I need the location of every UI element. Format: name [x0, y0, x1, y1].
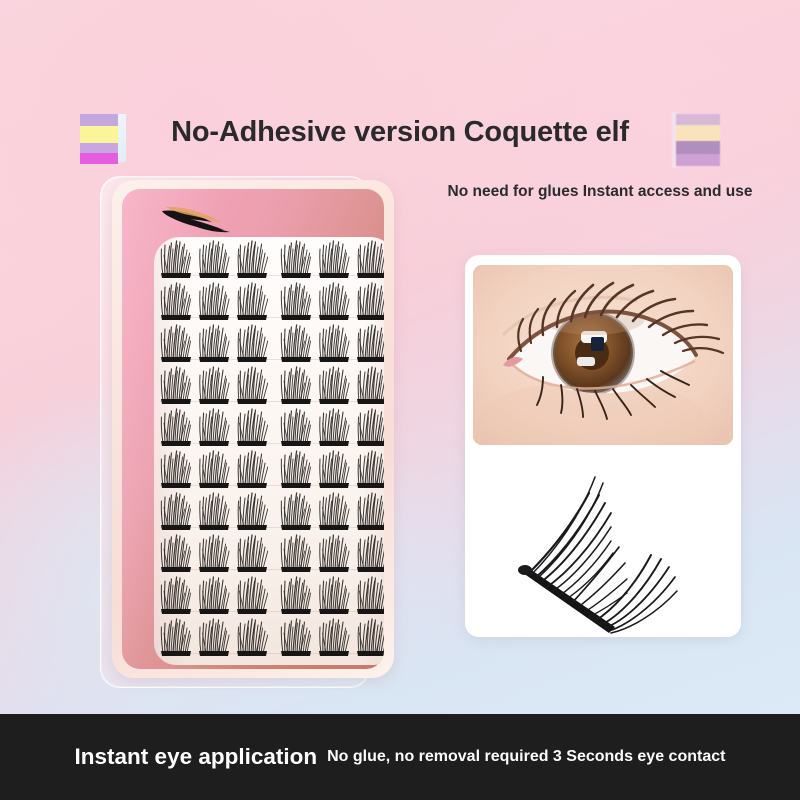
lash-cluster-cell [198, 449, 230, 489]
lash-cluster [318, 449, 350, 489]
lash-cluster [236, 407, 268, 447]
lash-cluster [356, 575, 384, 615]
lash-cluster [280, 323, 312, 363]
bottom-banner: Instant eye application No glue, no remo… [0, 714, 800, 800]
lash-cluster-cell [236, 491, 268, 531]
lash-cluster [198, 323, 230, 363]
tray-row-seam [160, 485, 384, 486]
lash-cluster-cell [160, 575, 192, 615]
lash-cluster [236, 617, 268, 657]
lash-cluster [280, 365, 312, 405]
lash-cluster-cell [160, 239, 192, 279]
lash-cluster-cell [236, 449, 268, 489]
lash-cluster [318, 239, 350, 279]
lash-cluster-cell [198, 407, 230, 447]
lash-cluster-cell [318, 575, 350, 615]
lash-cluster [356, 533, 384, 573]
lash-cluster-cell [356, 575, 384, 615]
lash-cluster-cell [280, 365, 312, 405]
lash-cluster [356, 617, 384, 657]
lash-cluster [160, 617, 192, 657]
lash-row [154, 239, 384, 281]
lash-cluster-cell [318, 281, 350, 321]
lash-cluster-cell [198, 365, 230, 405]
lash-cluster [160, 281, 192, 321]
lash-cluster-cell [280, 323, 312, 363]
lash-wing-logo [160, 203, 250, 237]
lash-cluster [280, 449, 312, 489]
lash-cluster [356, 281, 384, 321]
lash-cluster [318, 407, 350, 447]
lash-cluster [198, 281, 230, 321]
tray-row-seam [160, 443, 384, 444]
lash-cluster-cell [356, 323, 384, 363]
lash-cluster [160, 533, 192, 573]
lash-cluster-cell [198, 575, 230, 615]
lash-cluster [280, 281, 312, 321]
lash-cluster-cell [356, 617, 384, 657]
lash-cluster [236, 533, 268, 573]
lash-cluster [236, 323, 268, 363]
lash-cluster [236, 575, 268, 615]
lash-cluster-cell [356, 407, 384, 447]
lash-cluster-cell [198, 239, 230, 279]
lash-cluster-cell [236, 617, 268, 657]
lash-cluster-cell [198, 617, 230, 657]
lash-cluster-cell [280, 533, 312, 573]
page-title: No-Adhesive version Coquette elf [0, 104, 800, 160]
lash-row [154, 365, 384, 407]
lash-row [154, 617, 384, 659]
lash-cluster [160, 365, 192, 405]
lash-row [154, 449, 384, 491]
tray-row-seam [160, 317, 384, 318]
lash-cluster [318, 491, 350, 531]
bottom-banner-content: Instant eye application No glue, no remo… [0, 714, 800, 800]
lash-cluster-cell [356, 533, 384, 573]
lash-row [154, 407, 384, 449]
lash-cluster-cell [236, 239, 268, 279]
lash-cluster-cell [280, 281, 312, 321]
lash-cluster [356, 449, 384, 489]
lash-cluster [280, 533, 312, 573]
lash-row [154, 575, 384, 617]
banner-sub-text: No glue, no removal required 3 Seconds e… [327, 748, 725, 766]
lash-row [154, 323, 384, 365]
product-marketing-image: No-Adhesive version Coquette elf No need… [0, 0, 800, 800]
lash-cluster [198, 407, 230, 447]
lash-cluster [160, 491, 192, 531]
lash-cluster [318, 323, 350, 363]
lash-cluster-cell [280, 407, 312, 447]
case-body [122, 189, 384, 669]
tray-row-seam [160, 653, 384, 654]
lash-cluster-cell [318, 407, 350, 447]
lash-cluster-cell [198, 533, 230, 573]
lash-cluster-cell [356, 365, 384, 405]
lash-cluster-cell [160, 533, 192, 573]
lash-cluster [160, 575, 192, 615]
lash-cluster-cell [318, 323, 350, 363]
lash-row [154, 281, 384, 323]
lash-cluster [318, 365, 350, 405]
lash-cluster [236, 281, 268, 321]
lash-cluster-cell [236, 533, 268, 573]
lash-cluster-cell [318, 365, 350, 405]
tray-row-seam [160, 569, 384, 570]
lash-cluster [236, 239, 268, 279]
lash-cluster-cell [236, 407, 268, 447]
lash-cluster-cell [318, 617, 350, 657]
eye-closeup-photo [473, 265, 733, 445]
lash-cluster-cell [318, 449, 350, 489]
lash-cluster-cell [236, 365, 268, 405]
lash-cluster [280, 239, 312, 279]
lash-cluster-cell [356, 491, 384, 531]
lash-cluster [318, 575, 350, 615]
lash-cluster [160, 407, 192, 447]
tray-row-seam [160, 527, 384, 528]
lash-cluster [198, 617, 230, 657]
lash-row [154, 491, 384, 533]
tray-row-seam [160, 611, 384, 612]
tray-row-seam [160, 359, 384, 360]
lash-cluster [160, 323, 192, 363]
lash-cluster [198, 533, 230, 573]
lash-cluster-cell [160, 491, 192, 531]
lash-cluster-cell [280, 239, 312, 279]
lash-cluster-cell [198, 281, 230, 321]
lash-tray-insert [154, 237, 384, 665]
lash-cluster-cell [198, 491, 230, 531]
lash-cluster [318, 533, 350, 573]
lash-cluster-macro-photo [465, 451, 741, 637]
lash-cluster-cell [160, 281, 192, 321]
lash-cluster [356, 323, 384, 363]
lash-cluster-cell [356, 239, 384, 279]
lash-cluster [236, 365, 268, 405]
lash-cluster [318, 281, 350, 321]
banner-main-text: Instant eye application [75, 744, 318, 770]
lash-cluster-cell [318, 533, 350, 573]
lash-cluster-cell [160, 365, 192, 405]
lash-cluster [236, 449, 268, 489]
photo-card [465, 255, 741, 637]
lash-cluster-cell [236, 575, 268, 615]
lash-cluster-cell [236, 323, 268, 363]
lash-cluster [198, 575, 230, 615]
lash-cluster-cell [318, 239, 350, 279]
lash-cluster [160, 449, 192, 489]
lash-cluster-cell [160, 407, 192, 447]
lash-cluster [160, 239, 192, 279]
lash-cluster-cell [280, 617, 312, 657]
lash-cluster [198, 239, 230, 279]
lash-cluster [356, 239, 384, 279]
headline-row: No-Adhesive version Coquette elf [0, 104, 800, 160]
page-subtitle: No need for glues Instant access and use [420, 183, 780, 201]
eye-illustration [473, 265, 733, 445]
lash-cluster [280, 491, 312, 531]
lash-row [154, 533, 384, 575]
tray-row-seam [160, 275, 384, 276]
lash-cluster-cell [280, 449, 312, 489]
lash-cluster-cell [198, 323, 230, 363]
lash-cluster-cell [280, 491, 312, 531]
lash-macro-illustration [465, 451, 741, 637]
lash-cluster [318, 617, 350, 657]
lash-cluster-cell [280, 575, 312, 615]
lash-tray-product [100, 176, 400, 692]
lash-cluster [280, 407, 312, 447]
lash-cluster [356, 365, 384, 405]
lash-cluster [198, 449, 230, 489]
lash-cluster [280, 575, 312, 615]
lash-cluster-cell [356, 281, 384, 321]
lash-cluster-cell [318, 491, 350, 531]
lash-cluster-cell [160, 617, 192, 657]
lash-cluster [356, 407, 384, 447]
tray-row-seam [160, 401, 384, 402]
lash-cluster-cell [160, 449, 192, 489]
lash-cluster [236, 491, 268, 531]
lash-cluster-cell [160, 323, 192, 363]
lash-cluster [198, 365, 230, 405]
lash-cluster [280, 617, 312, 657]
lash-cluster [198, 491, 230, 531]
lash-cluster-cell [356, 449, 384, 489]
lash-cluster-cell [236, 281, 268, 321]
lash-cluster [356, 491, 384, 531]
